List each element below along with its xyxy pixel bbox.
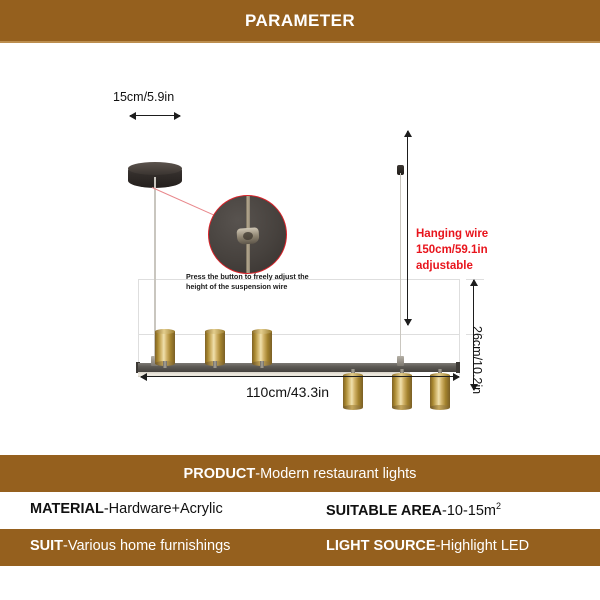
spec-value-suit: -Various home furnishings: [63, 538, 230, 554]
hanging-wire-note: Hanging wire 150cm/59.1in adjustable: [416, 227, 488, 275]
spec-key-suitable-area: SUITABLE AREA: [326, 503, 442, 519]
spec-cell-suitable-area: SUITABLE AREA-10-15m2: [326, 501, 501, 519]
uplight-1: [155, 331, 175, 363]
uplight-3-cap-icon: [252, 329, 272, 334]
spec-value-product: -Modern restaurant lights: [255, 466, 416, 482]
ceiling-canopy-top: [128, 162, 182, 175]
uplight-3-stem: [260, 361, 264, 368]
canopy-dimension-arrow: [130, 115, 180, 116]
spec-row-product: PRODUCT-Modern restaurant lights: [0, 455, 600, 492]
height-dimension-label: 26cm/10.2in: [470, 326, 484, 394]
spec-row-suit: SUIT-Various home furnishings LIGHT SOUR…: [0, 529, 600, 566]
spec-key-material: MATERIAL: [30, 501, 104, 517]
spec-cell-light-source: LIGHT SOURCE-Highlight LED: [326, 538, 529, 554]
spec-key-suit: SUIT: [30, 538, 63, 554]
spec-value-suitable-area: -10-15m: [442, 503, 496, 519]
wire-adjuster-button-icon: [236, 228, 259, 245]
downlight-3-cap-icon: [430, 405, 450, 410]
lamp-bar: [138, 363, 458, 372]
spec-key-product: PRODUCT: [184, 466, 256, 482]
header-banner: PARAMETER: [0, 0, 600, 41]
guide-line-left: [138, 279, 139, 375]
uplight-1-stem: [163, 361, 167, 368]
width-dimension-label: 110cm/43.3in: [246, 384, 329, 400]
guide-line-dim-bottom: [138, 334, 460, 335]
spec-key-light-source: LIGHT SOURCE: [326, 538, 436, 554]
uplight-2: [205, 331, 225, 363]
spec-row-material: MATERIAL-Hardware+Acrylic SUITABLE AREA-…: [0, 492, 600, 529]
downlight-3: [430, 375, 450, 407]
width-dimension-arrow: [141, 376, 459, 377]
magnifier-detail-circle: [208, 195, 287, 274]
downlight-1-cap-icon: [343, 405, 363, 410]
guide-line-right: [459, 279, 460, 375]
uplight-2-stem: [213, 361, 217, 368]
hanging-wire-note-line2: 150cm/59.1in: [416, 244, 488, 256]
uplight-3: [252, 331, 272, 363]
spec-cell-material: MATERIAL-Hardware+Acrylic: [30, 501, 223, 517]
spec-table: PRODUCT-Modern restaurant lights MATERIA…: [0, 455, 600, 566]
uplight-1-cap-icon: [155, 329, 175, 334]
hanging-wire-note-line1: Hanging wire: [416, 228, 488, 240]
product-diagram: Press the button to freely adjust the he…: [0, 43, 600, 443]
magnifier-caption: Press the button to freely adjust the he…: [186, 272, 328, 293]
downlight-2: [392, 375, 412, 407]
canopy-dimension-label: 15cm/5.9in: [113, 90, 174, 104]
magnifier-leader-line: [152, 187, 218, 217]
downlight-2-cap-icon: [392, 405, 412, 410]
spec-value-suitable-area-sup: 2: [496, 501, 501, 511]
downlight-1: [343, 375, 363, 407]
spec-value-light-source: -Highlight LED: [436, 538, 530, 554]
spec-value-material: -Hardware+Acrylic: [104, 501, 223, 517]
wire-connector-right: [397, 356, 404, 366]
bar-end-cap-right: [456, 362, 460, 373]
spec-cell-product: PRODUCT-Modern restaurant lights: [184, 466, 417, 482]
spec-cell-suit: SUIT-Various home furnishings: [30, 538, 230, 554]
page-title: PARAMETER: [245, 11, 355, 31]
hanging-wire-note-line3: adjustable: [416, 260, 473, 272]
suspension-wire-right: [400, 173, 401, 365]
uplight-2-cap-icon: [205, 329, 225, 334]
hanging-wire-dimension-arrow: [407, 131, 408, 325]
